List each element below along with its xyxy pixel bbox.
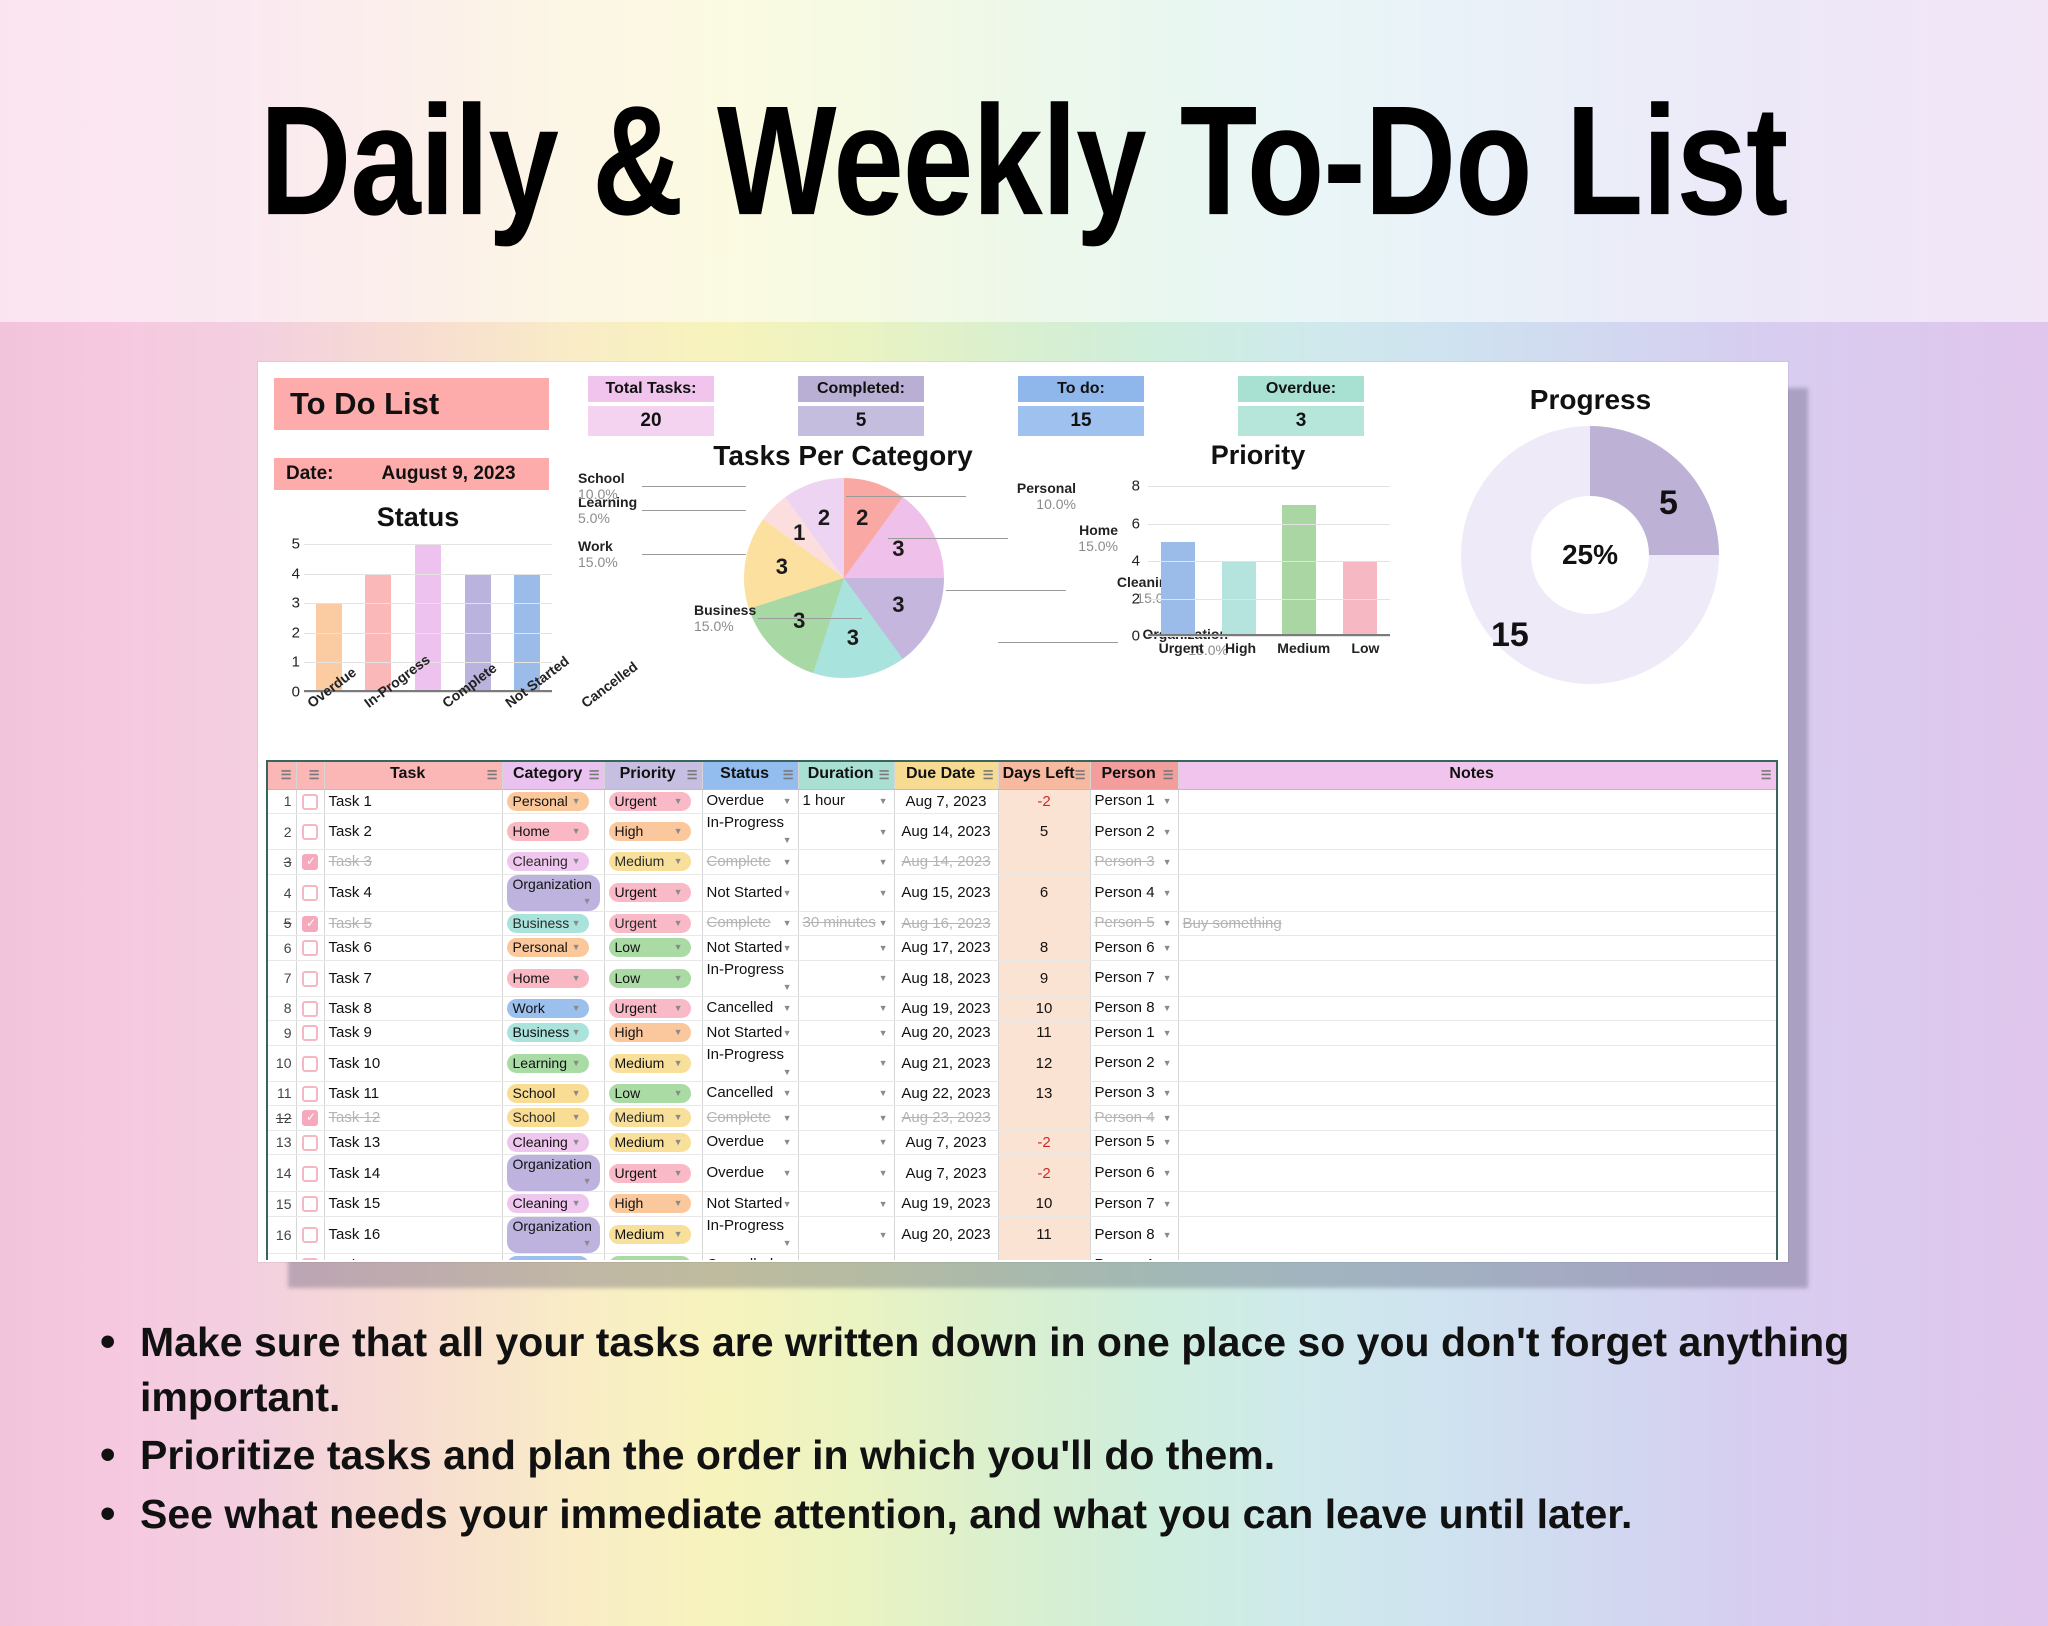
table-cell[interactable]: 15 [268,1192,296,1217]
column-header-priority[interactable]: Priority☰ [604,762,702,789]
chevron-down-icon[interactable]: ▼ [674,1000,685,1017]
column-header-person[interactable]: Person☰ [1090,762,1178,789]
table-cell[interactable]: Task 17 [324,1253,502,1260]
table-cell[interactable]: Aug 17, 2023 [894,936,998,961]
table-cell[interactable]: 11 [998,1021,1090,1046]
priority-chip[interactable]: High▼ [609,1194,691,1213]
table-cell[interactable] [1178,789,1776,814]
filter-icon[interactable]: ☰ [487,765,498,785]
table-row[interactable]: 11Task 11School▼Low▼Cancelled▼▼Aug 22, 2… [268,1081,1776,1106]
table-cell[interactable] [296,996,324,1021]
table-cell[interactable]: -2 [998,1130,1090,1155]
table-cell[interactable]: 11 [998,1216,1090,1253]
table-cell[interactable] [1178,1192,1776,1217]
chevron-down-icon[interactable]: ▼ [674,793,685,810]
table-cell[interactable]: Person 2▼ [1090,814,1178,850]
table-cell[interactable]: ▼ [798,814,894,850]
priority-chip[interactable]: Urgent▼ [609,1164,691,1183]
priority-chip[interactable]: Low▼ [609,1084,691,1103]
chevron-down-icon[interactable]: ▼ [674,884,685,901]
table-cell[interactable]: Task 10 [324,1045,502,1081]
table-cell[interactable]: Complete▼ [702,1106,798,1131]
priority-chip[interactable]: Urgent▼ [609,792,691,811]
table-cell[interactable]: 6 [268,936,296,961]
column-header-category[interactable]: Category☰ [502,762,604,789]
table-cell[interactable]: Organization▼ [502,1155,604,1192]
category-chip[interactable]: Organization▼ [507,1155,600,1191]
chevron-down-icon[interactable]: ▼ [879,1109,890,1127]
priority-chip[interactable]: Urgent▼ [609,999,691,1018]
category-chip[interactable]: Cleaning▼ [507,852,589,871]
table-cell[interactable]: ▼ [798,1253,894,1260]
table-cell[interactable]: Task 7 [324,960,502,996]
table-cell[interactable] [296,936,324,961]
table-cell[interactable]: ▼ [798,1021,894,1046]
table-cell[interactable]: Aug 15, 2023 [894,874,998,911]
category-chip[interactable]: Personal▼ [507,938,589,957]
chevron-down-icon[interactable]: ▼ [879,1024,890,1042]
table-cell[interactable]: Aug 21, 2023 [894,1045,998,1081]
chevron-down-icon[interactable]: ▼ [674,1109,685,1126]
table-cell[interactable]: Organization▼ [502,874,604,911]
chevron-down-icon[interactable]: ▼ [572,1024,583,1041]
table-cell[interactable]: ▼ [798,1045,894,1081]
category-chip[interactable]: Work▼ [507,999,589,1018]
table-cell[interactable]: Task 4 [324,874,502,911]
chevron-down-icon[interactable]: ▼ [783,1084,794,1102]
table-cell[interactable]: Overdue▼ [702,1155,798,1192]
chevron-down-icon[interactable]: ▼ [674,1024,685,1041]
table-cell[interactable] [998,1106,1090,1131]
table-cell[interactable]: Personal▼ [502,789,604,814]
table-cell[interactable]: High▼ [604,1021,702,1046]
chevron-down-icon[interactable]: ▼ [879,999,890,1017]
priority-chip[interactable]: High▼ [609,822,691,841]
table-row[interactable]: 6Task 6Personal▼Low▼Not Started▼▼Aug 17,… [268,936,1776,961]
category-chip[interactable]: Work▼ [507,1256,589,1260]
chevron-down-icon[interactable]: ▼ [1163,1226,1174,1244]
table-cell[interactable]: Urgent▼ [604,789,702,814]
table-cell[interactable]: 10 [998,996,1090,1021]
table-cell[interactable]: Aug 23, 2023 [894,1106,998,1131]
table-cell[interactable]: 17 [268,1253,296,1260]
table-cell[interactable]: 12 [998,1253,1090,1260]
table-cell[interactable]: Not Started▼ [702,936,798,961]
table-cell[interactable]: Low▼ [604,1081,702,1106]
filter-icon[interactable]: ☰ [281,765,292,785]
table-cell[interactable]: Task 2 [324,814,502,850]
priority-chip[interactable]: Medium▼ [609,1054,691,1073]
task-checkbox[interactable] [302,794,318,810]
priority-chip[interactable]: Medium▼ [609,1133,691,1152]
filter-icon[interactable]: ☰ [1075,765,1086,785]
table-cell[interactable]: 30 minutes▼ [798,911,894,936]
table-cell[interactable]: Not Started▼ [702,1021,798,1046]
table-cell[interactable]: Task 15 [324,1192,502,1217]
chevron-down-icon[interactable]: ▼ [783,999,794,1017]
table-cell[interactable] [1178,996,1776,1021]
table-cell[interactable]: Task 16 [324,1216,502,1253]
table-cell[interactable]: Aug 14, 2023 [894,850,998,875]
table-row[interactable]: 14Task 14Organization▼Urgent▼Overdue▼▼Au… [268,1155,1776,1192]
chevron-down-icon[interactable]: ▼ [783,853,794,871]
chevron-down-icon[interactable]: ▼ [879,1084,890,1102]
chevron-down-icon[interactable]: ▼ [1163,1024,1174,1042]
table-cell[interactable]: Low▼ [604,960,702,996]
table-cell[interactable]: School▼ [502,1081,604,1106]
category-chip[interactable]: School▼ [507,1084,589,1103]
table-cell[interactable] [998,911,1090,936]
category-chip[interactable]: Organization▼ [507,875,600,911]
table-cell[interactable]: Cleaning▼ [502,1192,604,1217]
table-cell[interactable]: 14 [268,1155,296,1192]
table-cell[interactable]: 13 [268,1130,296,1155]
table-cell[interactable]: -2 [998,789,1090,814]
chevron-down-icon[interactable]: ▼ [879,853,890,871]
table-cell[interactable] [296,1155,324,1192]
chevron-down-icon[interactable]: ▼ [783,1256,794,1260]
chevron-down-icon[interactable]: ▼ [1163,884,1174,902]
chevron-down-icon[interactable]: ▼ [783,1133,794,1151]
table-cell[interactable] [296,1192,324,1217]
table-cell[interactable] [1178,960,1776,996]
table-cell[interactable]: ▼ [798,1130,894,1155]
chevron-down-icon[interactable]: ▼ [1163,1256,1174,1260]
table-cell[interactable]: Aug 14, 2023 [894,814,998,850]
chevron-down-icon[interactable]: ▼ [783,1024,794,1042]
table-cell[interactable]: Not Started▼ [702,1192,798,1217]
category-chip[interactable]: Home▼ [507,822,589,841]
table-cell[interactable]: ▼ [798,1216,894,1253]
category-chip[interactable]: Business▼ [507,914,589,933]
chevron-down-icon[interactable]: ▼ [879,1256,890,1260]
table-cell[interactable]: 1 [268,789,296,814]
table-cell[interactable]: Person 6▼ [1090,1155,1178,1192]
table-cell[interactable]: Urgent▼ [604,874,702,911]
chevron-down-icon[interactable]: ▼ [674,970,685,987]
task-checkbox[interactable] [302,1166,318,1182]
category-chip[interactable]: School▼ [507,1108,589,1127]
chevron-down-icon[interactable]: ▼ [1163,999,1174,1017]
chevron-down-icon[interactable]: ▼ [1163,1195,1174,1213]
table-cell[interactable]: Aug 20, 2023 [894,1216,998,1253]
column-header-notes[interactable]: Notes☰ [1178,762,1776,789]
chevron-down-icon[interactable]: ▼ [572,915,583,932]
table-cell[interactable]: Cleaning▼ [502,850,604,875]
table-cell[interactable]: ▼ [798,960,894,996]
chevron-down-icon[interactable]: ▼ [783,792,794,810]
table-cell[interactable]: High▼ [604,814,702,850]
table-cell[interactable]: ▼ [798,1192,894,1217]
chevron-down-icon[interactable]: ▼ [1163,1164,1174,1182]
category-chip[interactable]: Cleaning▼ [507,1194,589,1213]
table-cell[interactable]: 12 [998,1045,1090,1081]
chevron-down-icon[interactable]: ▼ [879,914,890,932]
table-cell[interactable]: 4 [268,874,296,911]
table-cell[interactable]: 9 [998,960,1090,996]
table-cell[interactable]: Medium▼ [604,850,702,875]
chevron-down-icon[interactable]: ▼ [1163,792,1174,810]
chevron-down-icon[interactable]: ▼ [674,1085,685,1102]
chevron-down-icon[interactable]: ▼ [1163,939,1174,957]
table-cell[interactable]: 6 [998,874,1090,911]
table-cell[interactable]: Person 8▼ [1090,996,1178,1021]
table-cell[interactable]: Work▼ [502,996,604,1021]
table-cell[interactable]: High▼ [604,1192,702,1217]
filter-icon[interactable]: ☰ [1163,765,1174,785]
task-checkbox[interactable] [302,885,318,901]
task-checkbox[interactable] [302,1025,318,1041]
table-cell[interactable] [296,814,324,850]
table-cell[interactable]: Task 12 [324,1106,502,1131]
table-row[interactable]: 3Task 3Cleaning▼Medium▼Complete▼▼Aug 14,… [268,850,1776,875]
table-cell[interactable]: Aug 19, 2023 [894,996,998,1021]
chevron-down-icon[interactable]: ▼ [879,969,890,987]
chevron-down-icon[interactable]: ▼ [1163,853,1174,871]
table-cell[interactable]: Aug 7, 2023 [894,789,998,814]
filter-icon[interactable]: ☰ [1761,765,1772,785]
chevron-down-icon[interactable]: ▼ [674,915,685,932]
table-cell[interactable]: In-Progress▼ [702,960,798,996]
chevron-down-icon[interactable]: ▼ [572,1257,583,1260]
table-cell[interactable] [1178,850,1776,875]
chevron-down-icon[interactable]: ▼ [674,1195,685,1212]
table-cell[interactable]: 2 [268,814,296,850]
table-cell[interactable]: 5 [268,911,296,936]
column-header-days-left[interactable]: Days Left☰ [998,762,1090,789]
chevron-down-icon[interactable]: ▼ [674,1134,685,1151]
table-row[interactable]: 8Task 8Work▼Urgent▼Cancelled▼▼Aug 19, 20… [268,996,1776,1021]
table-cell[interactable]: Home▼ [502,960,604,996]
chevron-down-icon[interactable]: ▼ [674,853,685,870]
task-checkbox[interactable] [302,1086,318,1102]
table-cell[interactable]: 13 [998,1081,1090,1106]
chevron-down-icon[interactable]: ▼ [1163,914,1174,932]
chevron-down-icon[interactable]: ▼ [1163,969,1174,987]
table-cell[interactable]: ▼ [798,1106,894,1131]
table-cell[interactable]: Learning▼ [502,1045,604,1081]
table-cell[interactable] [296,911,324,936]
task-checkbox[interactable] [302,1258,318,1260]
table-cell[interactable]: -2 [998,1155,1090,1192]
table-cell[interactable]: 1 hour▼ [798,789,894,814]
table-cell[interactable] [296,1130,324,1155]
table-cell[interactable]: Person 3▼ [1090,1081,1178,1106]
chevron-down-icon[interactable]: ▼ [1163,1109,1174,1127]
chevron-down-icon[interactable]: ▼ [674,1257,685,1260]
filter-icon[interactable]: ☰ [983,765,994,785]
chevron-down-icon[interactable]: ▼ [1163,1084,1174,1102]
chevron-down-icon[interactable]: ▼ [879,1164,890,1182]
chevron-down-icon[interactable]: ▼ [879,823,890,841]
priority-chip[interactable]: Medium▼ [609,1108,691,1127]
table-cell[interactable]: Task 11 [324,1081,502,1106]
table-cell[interactable]: Person 5▼ [1090,1130,1178,1155]
priority-chip[interactable]: Low▼ [609,969,691,988]
table-row[interactable]: 10Task 10Learning▼Medium▼In-Progress▼▼Au… [268,1045,1776,1081]
table-cell[interactable]: In-Progress▼ [702,1216,798,1253]
table-row[interactable]: 2Task 2Home▼High▼In-Progress▼▼Aug 14, 20… [268,814,1776,850]
table-cell[interactable]: Aug 7, 2023 [894,1155,998,1192]
category-chip[interactable]: Organization▼ [507,1217,600,1253]
chevron-down-icon[interactable]: ▼ [1163,1133,1174,1151]
table-row[interactable]: 9Task 9Business▼High▼Not Started▼▼Aug 20… [268,1021,1776,1046]
table-cell[interactable]: Aug 18, 2023 [894,960,998,996]
table-cell[interactable]: 8 [998,936,1090,961]
table-cell[interactable]: 8 [268,996,296,1021]
table-row[interactable]: 13Task 13Cleaning▼Medium▼Overdue▼▼Aug 7,… [268,1130,1776,1155]
table-cell[interactable]: Medium▼ [604,1045,702,1081]
table-cell[interactable]: Organization▼ [502,1216,604,1253]
table-cell[interactable]: Complete▼ [702,850,798,875]
chevron-down-icon[interactable]: ▼ [572,793,583,810]
filter-icon[interactable]: ☰ [783,765,794,785]
chevron-down-icon[interactable]: ▼ [783,1164,794,1182]
table-row[interactable]: 7Task 7Home▼Low▼In-Progress▼▼Aug 18, 202… [268,960,1776,996]
column-header-duration[interactable]: Duration☰ [798,762,894,789]
chevron-down-icon[interactable]: ▼ [674,1165,685,1182]
task-checkbox[interactable] [302,824,318,840]
table-cell[interactable]: Person 4▼ [1090,874,1178,911]
table-cell[interactable]: Aug 19, 2023 [894,1192,998,1217]
table-row[interactable]: 4Task 4Organization▼Urgent▼Not Started▼▼… [268,874,1776,911]
task-checkbox[interactable] [302,1001,318,1017]
category-chip[interactable]: Business▼ [507,1023,589,1042]
priority-chip[interactable]: Medium▼ [609,1225,691,1244]
priority-chip[interactable]: Medium▼ [609,852,691,871]
chevron-down-icon[interactable]: ▼ [572,823,583,840]
table-cell[interactable] [296,874,324,911]
table-cell[interactable] [296,1045,324,1081]
table-cell[interactable]: 11 [268,1081,296,1106]
table-cell[interactable]: 5 [998,814,1090,850]
table-cell[interactable]: Cancelled▼ [702,1253,798,1260]
task-checkbox[interactable] [302,971,318,987]
chevron-down-icon[interactable]: ▼ [572,1085,583,1102]
column-header-status[interactable]: Status☰ [702,762,798,789]
table-cell[interactable]: Task 3 [324,850,502,875]
table-cell[interactable] [1178,814,1776,850]
chevron-down-icon[interactable]: ▼ [674,823,685,840]
column-header-task[interactable]: Task☰ [324,762,502,789]
table-cell[interactable]: Person 1▼ [1090,1253,1178,1260]
task-checkbox[interactable] [302,1196,318,1212]
table-cell[interactable]: Person 2▼ [1090,1045,1178,1081]
chevron-down-icon[interactable]: ▼ [879,1195,890,1213]
table-cell[interactable]: Task 1 [324,789,502,814]
table-cell[interactable]: ▼ [798,850,894,875]
table-cell[interactable] [1178,1253,1776,1260]
table-cell[interactable]: Work▼ [502,1253,604,1260]
table-cell[interactable] [1178,874,1776,911]
chevron-down-icon[interactable]: ▼ [783,884,794,902]
task-checkbox[interactable] [302,1227,318,1243]
column-header-icon[interactable]: ☰ [296,762,324,789]
table-cell[interactable] [296,1021,324,1046]
task-checkbox[interactable] [302,1110,318,1126]
table-cell[interactable]: Urgent▼ [604,1155,702,1192]
chevron-down-icon[interactable]: ▼ [783,939,794,957]
chevron-down-icon[interactable]: ▼ [572,1134,583,1151]
table-cell[interactable]: Aug 20, 2023 [894,1021,998,1046]
table-cell[interactable] [296,1081,324,1106]
priority-chip[interactable]: High▼ [609,1023,691,1042]
date-value[interactable]: August 9, 2023 [382,463,516,485]
chevron-down-icon[interactable]: ▼ [783,978,794,996]
table-cell[interactable]: Complete▼ [702,911,798,936]
category-chip[interactable]: Cleaning▼ [507,1133,589,1152]
table-cell[interactable]: Task 14 [324,1155,502,1192]
table-cell[interactable]: Person 7▼ [1090,1192,1178,1217]
chevron-down-icon[interactable]: ▼ [783,914,794,932]
table-cell[interactable]: ▼ [798,1155,894,1192]
table-cell[interactable]: Business▼ [502,911,604,936]
table-cell[interactable]: Low▼ [604,936,702,961]
table-cell[interactable] [296,1216,324,1253]
table-cell[interactable] [1178,1106,1776,1131]
table-cell[interactable] [296,1106,324,1131]
task-checkbox[interactable] [302,854,318,870]
chevron-down-icon[interactable]: ▼ [572,970,583,987]
chevron-down-icon[interactable]: ▼ [583,893,594,910]
table-cell[interactable] [998,850,1090,875]
table-cell[interactable]: In-Progress▼ [702,1045,798,1081]
table-cell[interactable]: ▼ [798,1081,894,1106]
table-cell[interactable]: Task 6 [324,936,502,961]
chevron-down-icon[interactable]: ▼ [674,1226,685,1243]
category-chip[interactable]: Home▼ [507,969,589,988]
chevron-down-icon[interactable]: ▼ [572,939,583,956]
table-cell[interactable]: Person 1▼ [1090,789,1178,814]
table-cell[interactable]: Task 9 [324,1021,502,1046]
table-cell[interactable]: Medium▼ [604,1216,702,1253]
chevron-down-icon[interactable]: ▼ [674,939,685,956]
table-cell[interactable] [296,960,324,996]
filter-icon[interactable]: ☰ [687,765,698,785]
table-cell[interactable]: Person 6▼ [1090,936,1178,961]
table-cell[interactable] [296,850,324,875]
table-cell[interactable]: 12 [268,1106,296,1131]
table-cell[interactable] [296,789,324,814]
table-cell[interactable]: 7 [268,960,296,996]
table-cell[interactable] [1178,1045,1776,1081]
column-header-due-date[interactable]: Due Date☰ [894,762,998,789]
table-row[interactable]: 17Task 17Work▼Low▼Cancelled▼▼Aug 21, 202… [268,1253,1776,1260]
chevron-down-icon[interactable]: ▼ [583,1173,594,1190]
table-cell[interactable]: Person 3▼ [1090,850,1178,875]
table-row[interactable]: 16Task 16Organization▼Medium▼In-Progress… [268,1216,1776,1253]
table-cell[interactable]: Aug 22, 2023 [894,1081,998,1106]
chevron-down-icon[interactable]: ▼ [583,1235,594,1252]
table-row[interactable]: 15Task 15Cleaning▼High▼Not Started▼▼Aug … [268,1192,1776,1217]
chevron-down-icon[interactable]: ▼ [783,1195,794,1213]
chevron-down-icon[interactable]: ▼ [1163,823,1174,841]
chevron-down-icon[interactable]: ▼ [572,1109,583,1126]
chevron-down-icon[interactable]: ▼ [572,853,583,870]
table-cell[interactable]: ▼ [798,996,894,1021]
priority-chip[interactable]: Urgent▼ [609,883,691,902]
table-cell[interactable] [1178,1021,1776,1046]
chevron-down-icon[interactable]: ▼ [783,1063,794,1081]
table-cell[interactable]: ▼ [798,936,894,961]
table-row[interactable]: 12Task 12School▼Medium▼Complete▼▼Aug 23,… [268,1106,1776,1131]
table-cell[interactable] [1178,936,1776,961]
table-cell[interactable]: Personal▼ [502,936,604,961]
table-cell[interactable]: Person 1▼ [1090,1021,1178,1046]
table-cell[interactable]: Home▼ [502,814,604,850]
filter-icon[interactable]: ☰ [589,765,600,785]
chevron-down-icon[interactable]: ▼ [879,884,890,902]
